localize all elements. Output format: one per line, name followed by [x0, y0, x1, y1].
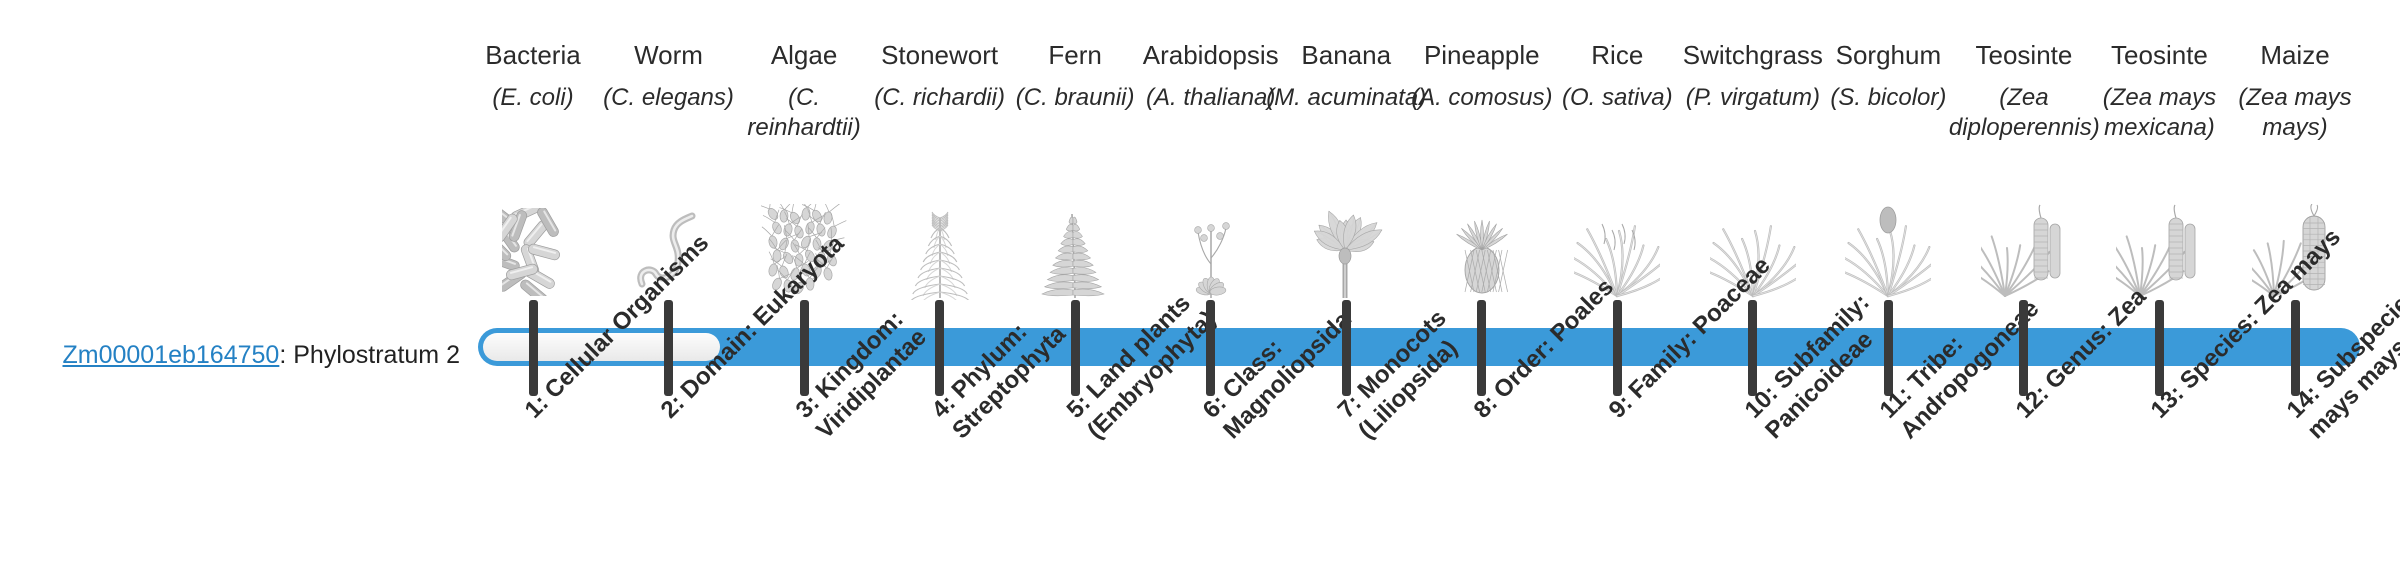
phylostratum-tick	[1477, 300, 1486, 396]
phylostratum-tick	[1613, 300, 1622, 396]
organism-illustration	[490, 204, 576, 300]
phylostratum-tick	[664, 300, 673, 396]
phylostratum-tick	[2019, 300, 2028, 396]
phylostratigraphy-figure: Zm00001eb164750: Phylostratum 2 Bacteria…	[0, 0, 2400, 580]
phylostratum-tick	[1206, 300, 1215, 396]
phylostratum-tick	[800, 300, 809, 396]
phylostratum-tick	[1071, 300, 1080, 396]
phylostratum-tick	[1342, 300, 1351, 396]
phylostratum-tick	[1748, 300, 1757, 396]
phylostratum-tick	[1884, 300, 1893, 396]
phylostratum-tick	[2291, 300, 2300, 396]
phylostratum-tick	[2155, 300, 2164, 396]
phylostratum-tick	[529, 300, 538, 396]
species-scientific-name: (Zea mays mays)	[2220, 83, 2370, 143]
bacteria-icon	[490, 204, 576, 300]
phylostratum-tick	[935, 300, 944, 396]
species-common-name: Maize	[2195, 38, 2395, 72]
